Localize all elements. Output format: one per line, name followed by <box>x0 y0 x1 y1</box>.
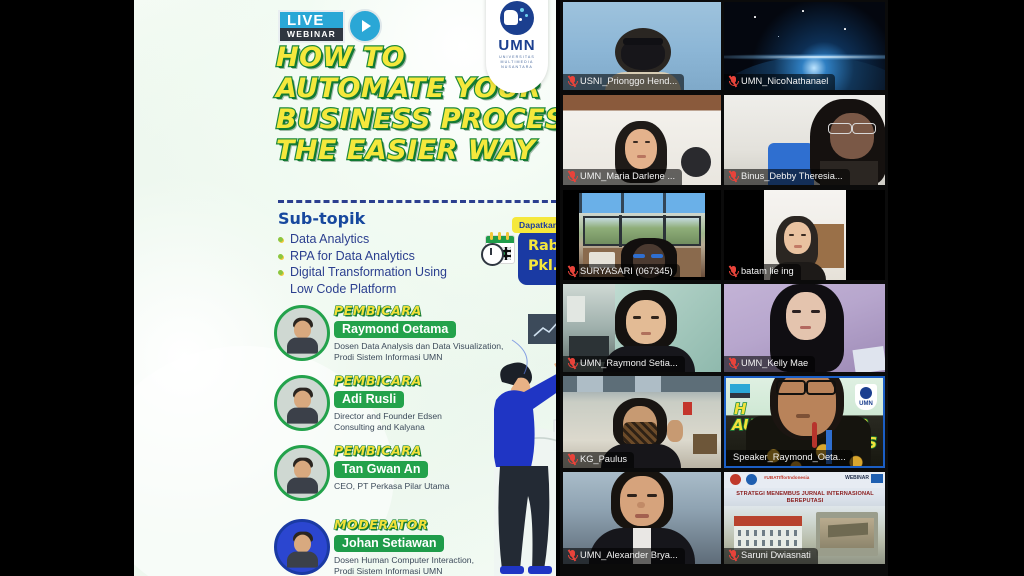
participant-name: UMN_Raymond Setia... <box>580 358 678 369</box>
subtopic-label: Low Code Platform <box>290 282 396 296</box>
participant-name-badge: SURYASARI (067345) <box>563 264 680 280</box>
subtopic-label: Digital Transformation Using <box>290 265 447 279</box>
participant-name: Binus_Debby Theresia... <box>741 171 843 182</box>
participant-name: UMN_Alexander Brya... <box>580 550 678 561</box>
subtopic-label: RPA for Data Analytics <box>290 249 415 263</box>
mic-muted-icon <box>729 76 737 87</box>
ecertificate-ribbon: Dapatkan e-certificate Webinar! <box>512 217 556 233</box>
participant-tile[interactable]: UMN_Kelly Mae <box>724 284 885 372</box>
mic-muted-icon <box>729 550 737 561</box>
speaker-entry: PEMBICARA Adi Rusli Director and Founder… <box>274 373 514 437</box>
speaker-name: Tan Gwan An <box>334 461 428 478</box>
live-label: LIVE <box>278 10 345 28</box>
headline-line-3: BUSINESS PROCESS <box>276 104 556 135</box>
speaker-desc-line1: CEO, PT Perkasa Pilar Utama <box>334 481 514 492</box>
moderator-desc-line1: Dosen Human Computer Interaction, <box>334 555 514 566</box>
slide-hashtag: #UBATIfforIndonesia <box>764 475 809 480</box>
participant-tile[interactable]: #UBATIfforIndonesia WEBINAR STRATEGI MEN… <box>724 472 885 564</box>
moderator-name: Johan Setiawan <box>334 535 444 552</box>
mic-muted-icon <box>729 358 737 369</box>
mic-muted-icon <box>729 266 737 277</box>
avatar <box>274 519 330 575</box>
slide-title: STRATEGI MENEMBUS JURNAL INTERNASIONAL B… <box>730 491 880 505</box>
participant-name: SURYASARI (067345) <box>580 266 673 277</box>
participant-tile[interactable]: Binus_Debby Theresia... <box>724 95 885 185</box>
mic-muted-icon <box>568 76 576 87</box>
mic-muted-icon <box>568 358 576 369</box>
speaker-desc-line2: Consulting and Kalyana <box>334 422 514 433</box>
subtopic-label: Data Analytics <box>290 232 369 246</box>
participant-name: UMN_Maria Darlene ... <box>580 171 675 182</box>
participant-name-badge: UMN_Kelly Mae <box>724 356 815 372</box>
participant-name-badge: Binus_Debby Theresia... <box>724 169 850 185</box>
speaker-entry: PEMBICARA Raymond Oetama Dosen Data Anal… <box>274 303 514 367</box>
subtopics-heading: Sub-topik <box>278 209 447 228</box>
moderator-entry: MODERATOR Johan Setiawan Dosen Human Com… <box>274 517 514 576</box>
bullet-icon <box>278 254 283 259</box>
subtopics-list: Data Analytics RPA for Data Analytics Di… <box>278 231 447 297</box>
bullet-icon <box>278 270 283 275</box>
participant-name: UMN_Kelly Mae <box>741 358 808 369</box>
participant-name: KG_Paulus <box>580 454 627 465</box>
participant-name: Speaker_Raymond_Oeta... <box>733 452 846 463</box>
participant-tile[interactable]: batam lie ing <box>724 190 885 280</box>
speaker-role: PEMBICARA <box>334 443 514 458</box>
umn-mark-icon <box>500 1 534 35</box>
subtopic-item-continuation: Low Code Platform <box>278 281 447 298</box>
participant-gallery: USNI_Prionggo Hend... UMN_NicoNathanael <box>560 0 888 576</box>
participant-name: Saruni Dwiasnati <box>741 550 811 561</box>
avatar <box>274 445 330 501</box>
participant-name-badge: UMN_Maria Darlene ... <box>563 169 682 185</box>
speaker-desc-line1: Director and Founder Edsen <box>334 411 514 422</box>
participant-name-badge: Saruni Dwiasnati <box>724 548 818 564</box>
participant-name-badge: UMN_NicoNathanael <box>724 74 835 90</box>
participant-tile[interactable]: SURYASARI (067345) <box>563 190 721 280</box>
calendar-clock-icon <box>481 232 515 266</box>
participant-name-badge: KG_Paulus <box>563 452 634 468</box>
participant-name-badge: Speaker_Raymond_Oeta... <box>726 450 853 466</box>
schedule-time: Pkl. 08.30-12.00 WIB <box>518 256 556 276</box>
subtopic-item: Data Analytics <box>278 231 447 248</box>
speaker-desc-line1: Dosen Data Analysis dan Data Visualizati… <box>334 341 514 352</box>
zoom-meeting-window: UMN UNIVERSITAS MULTIMEDIA NUSANTARA LIV… <box>0 0 1024 576</box>
moderator-role: MODERATOR <box>334 517 514 532</box>
participant-name-badge: UMN_Alexander Brya... <box>563 548 685 564</box>
play-icon <box>348 9 382 43</box>
active-speaker-tile[interactable]: H AU YOUR SS UMN Speaker_Raymond_Oeta... <box>724 376 885 468</box>
speaker-role: PEMBICARA <box>334 303 514 318</box>
schedule-date: Rabu, 22 Juli 2020 <box>518 230 556 256</box>
participant-tile[interactable]: UMN_Alexander Brya... <box>563 472 721 564</box>
speaker-name: Adi Rusli <box>334 391 404 408</box>
subtopic-item: RPA for Data Analytics <box>278 248 447 265</box>
live-webinar-badge: LIVE WEBINAR <box>278 9 382 43</box>
speakers-list: PEMBICARA Raymond Oetama Dosen Data Anal… <box>274 303 514 576</box>
mic-muted-icon <box>568 550 576 561</box>
participant-name-badge: batam lie ing <box>724 264 801 280</box>
participant-tile[interactable]: KG_Paulus <box>563 376 721 468</box>
participant-name-badge: USNI_Prionggo Hend... <box>563 74 684 90</box>
mic-muted-icon <box>568 171 576 182</box>
mic-muted-icon <box>568 454 576 465</box>
slide-webinar-label: WEBINAR <box>845 475 869 481</box>
umn-logo: UMN UNIVERSITAS MULTIMEDIA NUSANTARA <box>486 0 548 93</box>
avatar <box>274 305 330 361</box>
shared-screen-content[interactable]: UMN UNIVERSITAS MULTIMEDIA NUSANTARA LIV… <box>134 0 556 576</box>
speaker-role: PEMBICARA <box>334 373 514 388</box>
participant-name: batam lie ing <box>741 266 794 277</box>
moderator-desc-line2: Prodi Sistem Informasi UMN <box>334 566 514 576</box>
subtopic-item: Digital Transformation Using <box>278 264 447 281</box>
speaker-desc-line2: Prodi Sistem Informasi UMN <box>334 352 514 363</box>
participant-tile[interactable]: USNI_Prionggo Hend... <box>563 2 721 90</box>
headline-line-4: THE EASIER WAY <box>276 135 556 166</box>
subtopics-block: Sub-topik Data Analytics RPA for Data An… <box>278 209 447 297</box>
mic-muted-icon <box>568 266 576 277</box>
webinar-label: WEBINAR <box>278 28 345 43</box>
umn-fullname: UNIVERSITAS MULTIMEDIA NUSANTARA <box>489 55 545 70</box>
speaker-name: Raymond Oetama <box>334 321 456 338</box>
speaker-entry: PEMBICARA Tan Gwan An CEO, PT Perkasa Pi… <box>274 443 514 507</box>
bullet-icon <box>278 237 283 242</box>
divider <box>278 200 556 203</box>
umn-acronym: UMN <box>498 38 535 53</box>
participant-tile[interactable]: UMN_NicoNathanael <box>724 2 885 90</box>
participant-tile[interactable]: UMN_Maria Darlene ... <box>563 95 721 185</box>
participant-name-badge: UMN_Raymond Setia... <box>563 356 685 372</box>
participant-tile[interactable]: UMN_Raymond Setia... <box>563 284 721 372</box>
mic-muted-icon <box>729 171 737 182</box>
avatar <box>274 375 330 431</box>
participant-name: UMN_NicoNathanael <box>741 76 828 87</box>
schedule-card: Rabu, 22 Juli 2020 Pkl. 08.30-12.00 WIB <box>518 230 556 285</box>
participant-name: USNI_Prionggo Hend... <box>580 76 677 87</box>
